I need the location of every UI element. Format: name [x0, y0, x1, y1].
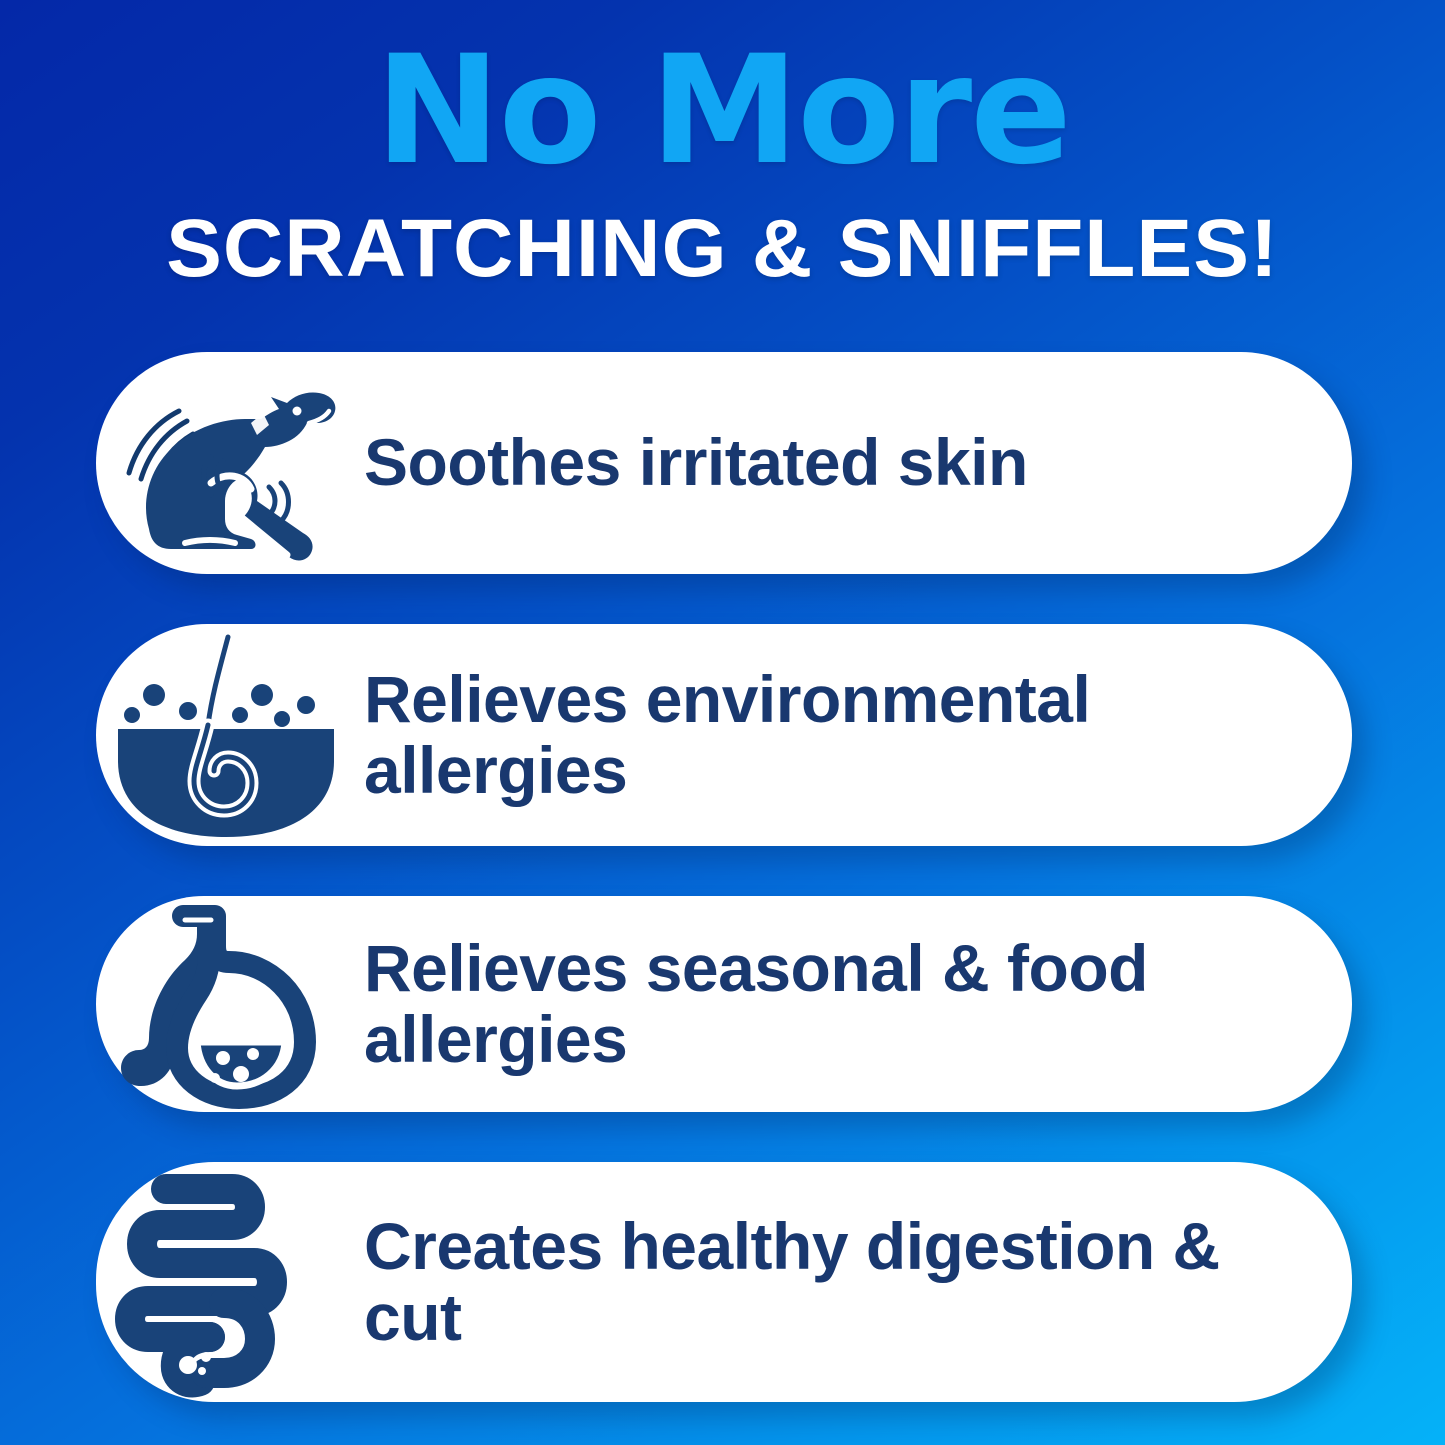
benefit-card: Creates healthy digestion & cut: [96, 1162, 1352, 1402]
benefit-label: Soothes irritated skin: [364, 427, 1028, 498]
benefit-label: Relieves environmental allergies: [364, 664, 1312, 807]
benefit-card: Soothes irritated skin: [96, 352, 1352, 574]
page-subtitle: SCRATCHING & SNIFFLES!: [0, 208, 1445, 290]
stomach-icon: [104, 893, 348, 1115]
benefit-card: Relieves seasonal & food allergies: [96, 896, 1352, 1112]
promo-poster: No More SCRATCHING & SNIFFLES!: [0, 0, 1445, 1445]
benefit-card: Relieves environmental allergies: [96, 624, 1352, 846]
page-title: No More: [0, 36, 1445, 186]
benefit-label: Creates healthy digestion & cut: [364, 1211, 1312, 1354]
hair-follicle-skin-icon: [104, 624, 348, 846]
benefit-label: Relieves seasonal & food allergies: [364, 933, 1312, 1076]
benefit-card-list: Soothes irritated skin: [96, 352, 1352, 1402]
intestines-icon: [104, 1171, 348, 1393]
headline-block: No More SCRATCHING & SNIFFLES!: [0, 0, 1445, 290]
scratching-dog-icon: [104, 352, 348, 574]
